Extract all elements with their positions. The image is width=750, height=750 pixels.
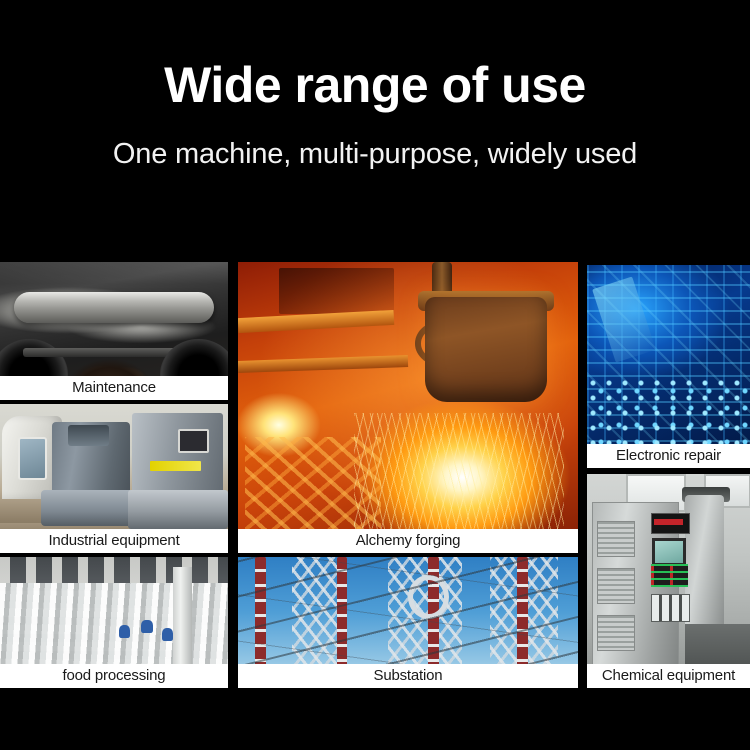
suspension-bar-shape bbox=[23, 348, 205, 358]
control-buttons-shape bbox=[651, 594, 690, 622]
lathe-body-shape bbox=[132, 413, 223, 493]
ceiling-lights-shape bbox=[0, 557, 228, 586]
gallery-item-chemical-equipment[interactable]: Chemical equipment bbox=[587, 474, 750, 688]
blue-worker-shape bbox=[141, 620, 152, 633]
cabinet-vent-shape bbox=[597, 615, 635, 651]
lathe-base-shape bbox=[128, 490, 228, 529]
gallery-item-alchemy-forging[interactable]: Alchemy forging bbox=[238, 262, 578, 553]
gallery-caption-food-processing: food processing bbox=[0, 664, 228, 688]
molten-metal-ladle-photo bbox=[238, 262, 578, 553]
image-gallery: Maintenance Industrial equipment food pr bbox=[0, 0, 750, 750]
indicator-leds-shape bbox=[651, 564, 688, 588]
molten-ladle-shape bbox=[425, 297, 547, 402]
gallery-caption-electronic-repair: Electronic repair bbox=[587, 444, 750, 468]
gallery-item-maintenance[interactable]: Maintenance bbox=[0, 262, 228, 400]
gallery-caption-industrial-equipment: Industrial equipment bbox=[0, 529, 228, 553]
machine-window-shape bbox=[18, 437, 47, 480]
gallery-caption-chemical-equipment: Chemical equipment bbox=[587, 664, 750, 688]
gallery-caption-substation: Substation bbox=[238, 664, 578, 688]
control-screen-shape bbox=[652, 538, 686, 565]
gallery-item-food-processing[interactable]: food processing bbox=[0, 557, 228, 688]
blue-worker-shape bbox=[162, 628, 173, 641]
steel-control-cabinet-photo bbox=[587, 474, 750, 688]
blue-circuit-board-photo bbox=[587, 265, 750, 468]
gallery-caption-alchemy-forging: Alchemy forging bbox=[238, 529, 578, 553]
steel-tank-shape bbox=[685, 495, 724, 628]
steel-beam-shape bbox=[238, 310, 395, 333]
cabinet-vent-shape bbox=[597, 568, 635, 604]
exhaust-pipe-shape bbox=[14, 292, 215, 322]
digital-readout-shape bbox=[654, 519, 683, 525]
furnace-structure-shape bbox=[279, 268, 395, 315]
machine-monitor-shape bbox=[178, 429, 209, 452]
gallery-item-substation[interactable]: Substation bbox=[238, 557, 578, 688]
cabinet-vent-shape bbox=[597, 521, 635, 557]
gallery-caption-maintenance: Maintenance bbox=[0, 376, 228, 400]
machine-label-shape bbox=[150, 461, 200, 471]
steel-beam-shape bbox=[238, 355, 408, 373]
gallery-item-industrial-equipment[interactable]: Industrial equipment bbox=[0, 404, 228, 553]
gallery-item-electronic-repair[interactable]: Electronic repair bbox=[587, 265, 750, 468]
machine-head-shape bbox=[68, 425, 109, 446]
blue-worker-shape bbox=[119, 625, 130, 638]
machine-base-shape bbox=[41, 490, 137, 526]
